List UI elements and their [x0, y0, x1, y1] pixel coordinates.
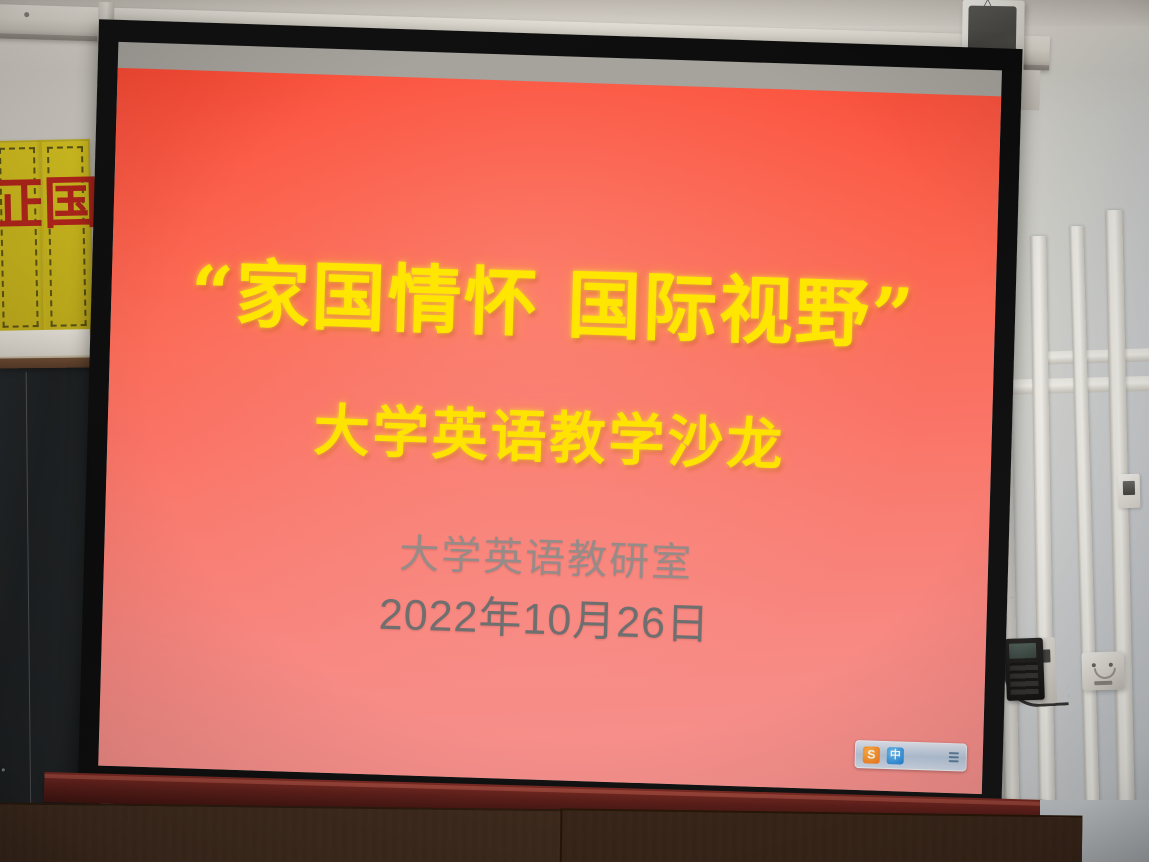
banner-character-left: 正: [0, 176, 42, 233]
wall-phone[interactable]: [1005, 637, 1062, 713]
classroom-photo-scene: 正 国 △: [0, 0, 1149, 862]
slide-content: “家国情怀 国际视野” 大学英语教学沙龙 大学英语教研室 2022年10月26日: [98, 68, 1001, 794]
slide-subtitle: 大学英语教学沙龙: [313, 400, 786, 477]
projection-screen-frame: “家国情怀 国际视野” 大学英语教学沙龙 大学英语教研室 2022年10月26日…: [77, 19, 1022, 824]
menu-dots-icon[interactable]: [949, 752, 959, 762]
wooden-panel-right: [560, 808, 1083, 862]
casing-screw: [24, 12, 29, 17]
slide-title: “家国情怀 国际视野”: [190, 254, 917, 357]
presentation-slide: “家国情怀 国际视野” 大学英语教学沙龙 大学英语教研室 2022年10月26日…: [98, 68, 1001, 794]
socket-arc: [1094, 668, 1116, 680]
blackboard-seam: [26, 372, 32, 824]
switch-rocker[interactable]: [1123, 481, 1135, 495]
phone-handset[interactable]: [1005, 638, 1045, 701]
projection-screen-surface: “家国情怀 国际视野” 大学英语教学沙龙 大学英语教研室 2022年10月26日…: [98, 42, 1002, 794]
socket-hole: [1109, 663, 1113, 667]
sogou-logo-icon[interactable]: S: [863, 746, 880, 764]
language-mode-icon[interactable]: 中: [887, 747, 904, 765]
phone-keypad[interactable]: [1010, 662, 1039, 695]
wall-banner-panels: 正 国: [0, 139, 88, 353]
socket-slot: [1094, 681, 1112, 685]
chalk-mark: [2, 768, 5, 771]
banner-panel-right: 国: [40, 139, 94, 334]
wooden-panel-left: [0, 802, 592, 862]
banner-character-right: 国: [43, 175, 90, 232]
banner-panel-left: 正: [0, 140, 46, 335]
ime-floating-toolbar[interactable]: S 中: [854, 740, 967, 772]
slide-organization: 大学英语教研室: [399, 531, 694, 586]
socket-hole: [1092, 663, 1096, 667]
slide-date: 2022年10月26日: [378, 590, 711, 650]
power-socket[interactable]: [1082, 651, 1125, 690]
phone-display: [1009, 643, 1037, 659]
light-switch[interactable]: [1118, 474, 1141, 509]
